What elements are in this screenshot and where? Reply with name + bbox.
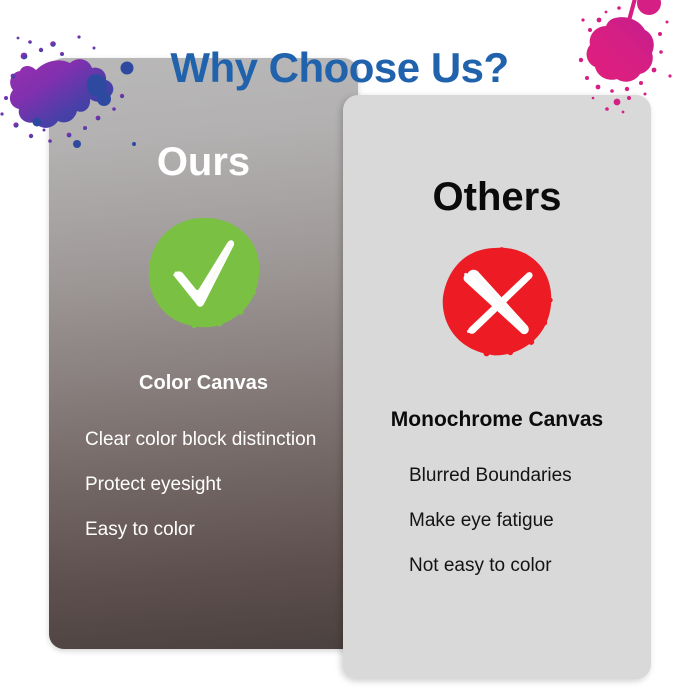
- panel-ours-feature-list: Clear color block distinction Protect ey…: [85, 430, 355, 565]
- panel-others: Others: [343, 95, 651, 679]
- check-circle-icon: [146, 215, 262, 331]
- panel-others-subtitle: Monochrome Canvas: [343, 408, 651, 432]
- panel-others-heading: Others: [343, 175, 651, 220]
- list-item: Protect eyesight: [85, 475, 355, 494]
- list-item: Clear color block distinction: [85, 430, 355, 449]
- panel-others-feature-list: Blurred Boundaries Make eye fatigue Not …: [409, 466, 649, 601]
- page-title: Why Choose Us?: [0, 44, 679, 92]
- panel-ours-subtitle: Color Canvas: [49, 372, 358, 395]
- list-item: Blurred Boundaries: [409, 466, 649, 485]
- panel-ours: Ours: [49, 58, 358, 649]
- list-item: Easy to color: [85, 520, 355, 539]
- cross-circle-icon: [440, 245, 554, 359]
- panel-ours-heading: Ours: [49, 140, 358, 185]
- list-item: Make eye fatigue: [409, 511, 649, 530]
- comparison-graphic: Ours: [0, 0, 679, 690]
- list-item: Not easy to color: [409, 556, 649, 575]
